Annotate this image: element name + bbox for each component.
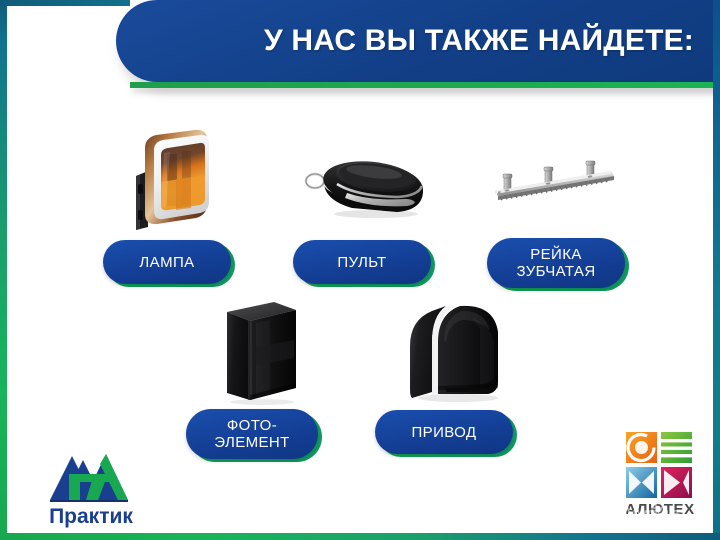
gear-rack-image (490, 160, 618, 212)
product-button-label: ФОТО- ЭЛЕМЕНТ (214, 417, 289, 451)
gate-drive-motor-image (402, 298, 508, 406)
praktik-logo: Практик (28, 434, 154, 528)
frame-border-left (0, 0, 7, 540)
product-button-label: ЛАМПА (139, 254, 194, 271)
alutex-wordmark: АЛЮТЕХ (625, 501, 694, 518)
praktik-wordmark: Практик (49, 505, 133, 528)
pill-surface: РЕЙКА ЗУБЧАТАЯ (487, 238, 625, 288)
product-button-label: РЕЙКА ЗУБЧАТАЯ (516, 246, 595, 280)
header-band: У НАС ВЫ ТАКЖЕ НАЙДЕТЕ: (116, 0, 720, 82)
product-button-fotoelement[interactable]: ФОТО- ЭЛЕМЕНТ (186, 409, 318, 459)
pill-surface: ПРИВОД (375, 410, 513, 454)
product-button-lampa[interactable]: ЛАМПА (103, 240, 231, 284)
page-title: У НАС ВЫ ТАКЖЕ НАЙДЕТЕ: (264, 24, 694, 58)
photocell-sensor-image (212, 296, 308, 406)
product-button-label: ПРИВОД (412, 424, 477, 441)
pill-surface: ПУЛЬТ (293, 240, 431, 284)
remote-control-image (296, 148, 428, 224)
header-underline (130, 82, 720, 88)
product-button-privod[interactable]: ПРИВОД (375, 410, 513, 454)
frame-border-right (713, 0, 720, 540)
frame-border-top-left (0, 0, 130, 6)
pill-surface: ФОТО- ЭЛЕМЕНТ (186, 409, 318, 459)
alutex-logo: АЛЮТЕХ (620, 426, 700, 524)
frame-border-bottom (0, 533, 720, 540)
pill-surface: ЛАМПА (103, 240, 231, 284)
slide-canvas: У НАС ВЫ ТАКЖЕ НАЙДЕТЕ: (0, 0, 720, 540)
product-button-reyka-zubchataya[interactable]: РЕЙКА ЗУБЧАТАЯ (487, 238, 625, 288)
signal-lamp-image (112, 126, 216, 232)
product-button-pult[interactable]: ПУЛЬТ (293, 240, 431, 284)
product-button-label: ПУЛЬТ (337, 254, 386, 271)
